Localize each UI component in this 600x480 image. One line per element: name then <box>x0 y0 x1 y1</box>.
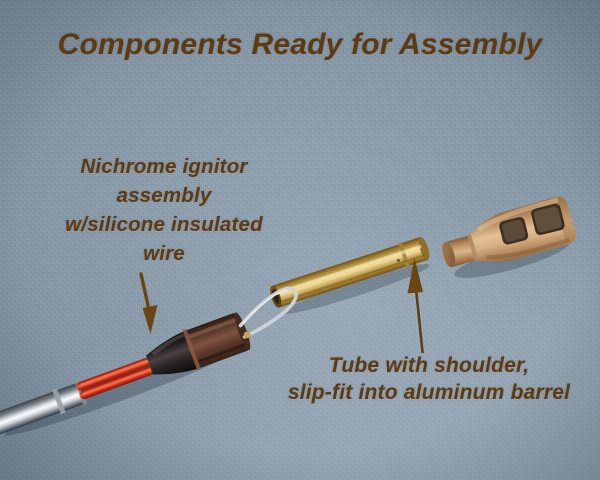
nichrome-ignitor-caption: Nichrome ignitor assembly w/silicone ins… <box>28 152 300 268</box>
page-title: Components Ready for Assembly <box>0 28 600 62</box>
tan-polymer-nozzle <box>440 186 580 284</box>
arrow-to-tube-icon <box>396 256 444 356</box>
tube-caption: Tube with shoulder, slip-fit into alumin… <box>258 352 600 406</box>
arrow-to-ignitor-icon <box>120 272 190 338</box>
photograph: Components Ready for Assembly Nichrome i… <box>0 0 600 480</box>
